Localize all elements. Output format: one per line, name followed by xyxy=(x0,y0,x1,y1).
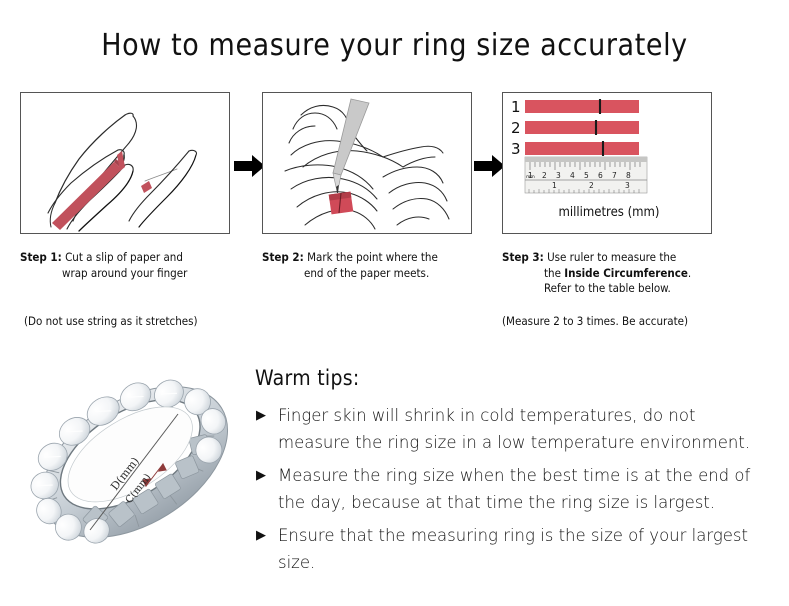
strips-and-ruler-drawing: 1 2 3 xyxy=(503,93,710,232)
step-3-illustration-panel: 1 2 3 xyxy=(502,92,712,234)
step-3-line-1: Use ruler to measure the xyxy=(547,250,676,264)
svg-text:7: 7 xyxy=(612,171,617,180)
svg-text:6: 6 xyxy=(598,171,603,180)
step-3-label: Step 3: xyxy=(502,250,544,264)
step-2-line-2: end of the paper meets. xyxy=(262,266,497,282)
warm-tips-heading: Warm tips: xyxy=(255,366,360,390)
paper-wrap-marks xyxy=(117,151,152,193)
strip-label-3: 3 xyxy=(511,140,521,158)
step-3-line-2-pre: the xyxy=(544,266,564,280)
red-paper-band xyxy=(329,192,354,215)
step-1-illustration-panel xyxy=(20,92,230,234)
step-1-label: Step 1: xyxy=(20,250,62,264)
svg-text:3: 3 xyxy=(625,181,630,190)
svg-text:4: 4 xyxy=(570,171,575,180)
pen-tool xyxy=(333,99,369,193)
tip-item: ▶ Finger skin will shrink in cold temper… xyxy=(256,402,766,456)
measure-strip-2 xyxy=(525,121,639,134)
warm-tips-list: ▶ Finger skin will shrink in cold temper… xyxy=(256,402,766,582)
measure-strip-3 xyxy=(525,142,639,155)
triangle-bullet-icon: ▶ xyxy=(256,462,266,489)
step-3-emphasis: Inside Circumference xyxy=(564,266,688,280)
step-3-line-3: Refer to the table below. xyxy=(502,281,772,297)
step-2-caption: Step 2: Mark the point where the end of … xyxy=(262,250,497,281)
hand-with-paper-slip-drawing xyxy=(21,93,228,232)
step-3-line-2: the Inside Circumference. xyxy=(502,266,772,282)
svg-text:mm: mm xyxy=(526,175,535,180)
step-3-caption: Step 3: Use ruler to measure the the Ins… xyxy=(502,250,772,297)
svg-text:1: 1 xyxy=(552,181,557,190)
strip-label-2: 2 xyxy=(511,119,521,137)
step-2-illustration-panel xyxy=(262,92,472,234)
measure-strip-1 xyxy=(525,100,639,113)
step-2-label: Step 2: xyxy=(262,250,304,264)
svg-text:2: 2 xyxy=(542,171,547,180)
tip-text: Measure the ring size when the best time… xyxy=(278,466,750,512)
svg-text:3: 3 xyxy=(556,171,561,180)
eternity-ring-illustration: D(mm) C(mm) xyxy=(18,352,253,572)
svg-text:5: 5 xyxy=(584,171,589,180)
page-title: How to measure your ring size accurately xyxy=(0,28,789,63)
step-2-line-1: Mark the point where the xyxy=(307,250,438,264)
tip-item: ▶ Ensure that the measuring ring is the … xyxy=(256,522,766,576)
triangle-bullet-icon: ▶ xyxy=(256,522,266,549)
ring-diagram: D(mm) C(mm) xyxy=(18,352,253,572)
tip-text: Finger skin will shrink in cold temperat… xyxy=(278,406,750,452)
triangle-bullet-icon: ▶ xyxy=(256,402,266,429)
step-1-line-1: Cut a slip of paper and xyxy=(65,250,183,264)
tip-text: Ensure that the measuring ring is the si… xyxy=(278,526,748,572)
step-1-note: (Do not use string as it stretches) xyxy=(24,314,198,328)
hand-marking-paper-drawing xyxy=(263,93,470,232)
step-1-caption: Step 1: Cut a slip of paper and wrap aro… xyxy=(20,250,255,281)
strip-label-1: 1 xyxy=(511,98,521,116)
svg-text:2: 2 xyxy=(589,181,594,190)
tip-item: ▶ Measure the ring size when the best ti… xyxy=(256,462,766,516)
ruler: 123 456 78 mm 123 xyxy=(525,157,647,193)
svg-text:8: 8 xyxy=(626,171,631,180)
ruler-unit-caption: millimetres (mm) xyxy=(558,205,659,220)
step-3-note: (Measure 2 to 3 times. Be accurate) xyxy=(502,314,688,328)
step-3-line-2-post: . xyxy=(688,266,691,280)
step-1-line-2: wrap around your finger xyxy=(20,266,255,282)
